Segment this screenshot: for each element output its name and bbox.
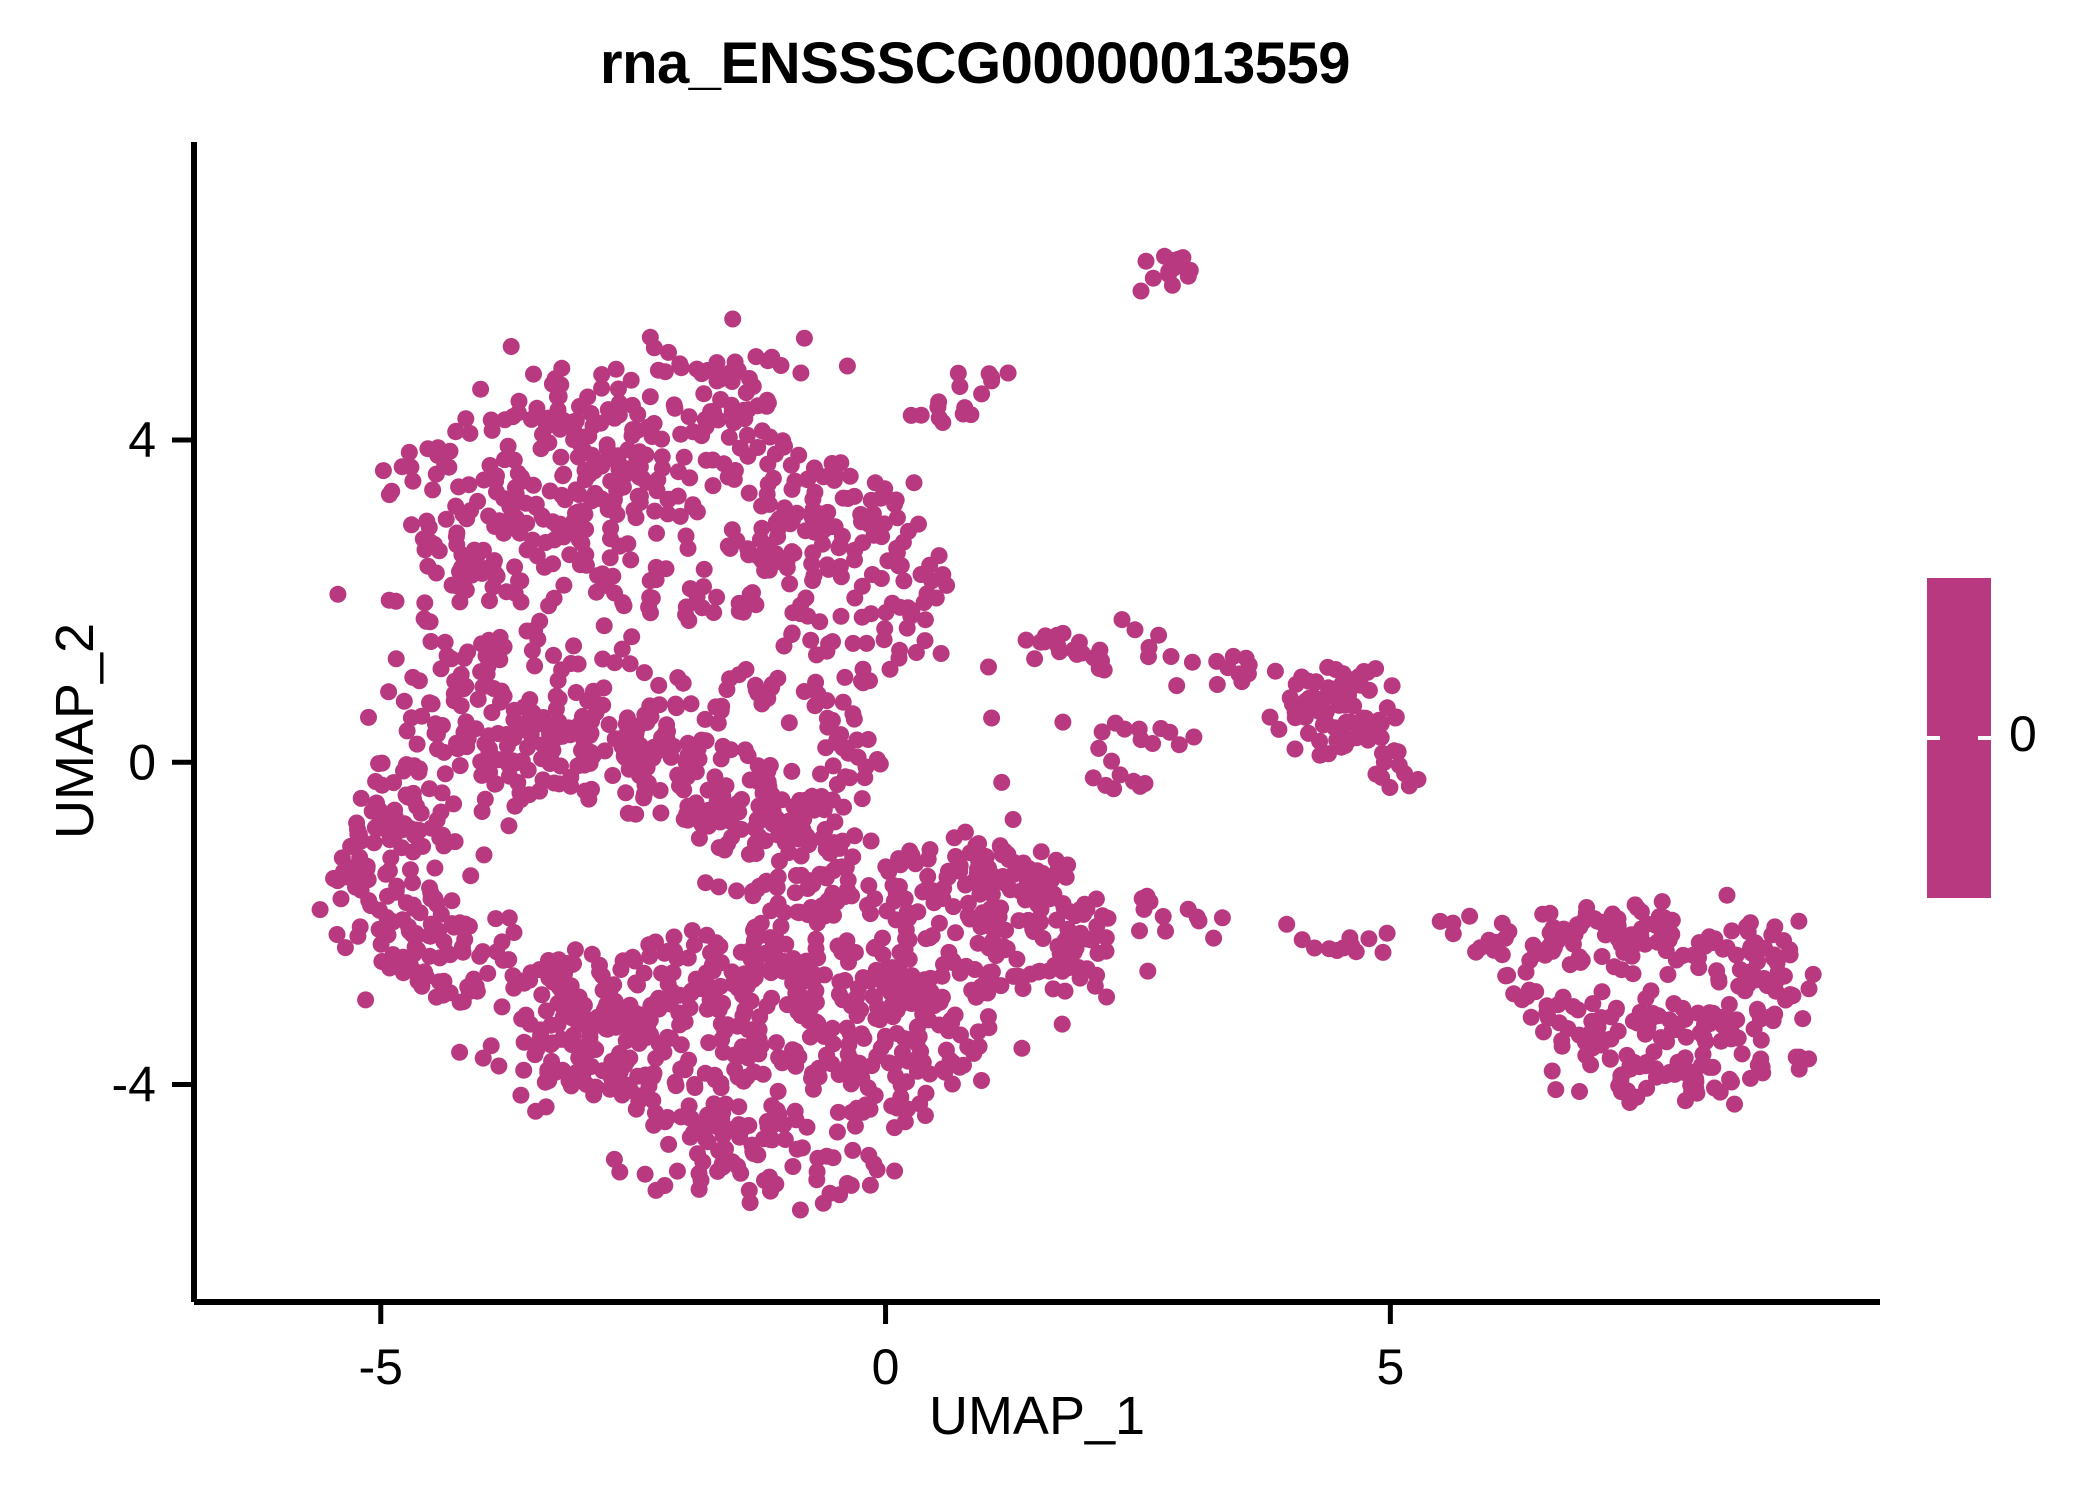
scatter-point xyxy=(909,903,926,920)
scatter-point xyxy=(739,1049,756,1066)
scatter-point xyxy=(781,714,798,731)
scatter-point xyxy=(1282,689,1299,706)
scatter-point xyxy=(803,555,820,572)
scatter-point xyxy=(668,699,685,716)
scatter-point xyxy=(418,613,435,630)
scatter-point xyxy=(718,681,735,698)
scatter-point xyxy=(770,1049,787,1066)
scatter-point xyxy=(962,844,979,861)
scatter-point xyxy=(429,741,446,758)
scatter-point xyxy=(1145,270,1162,287)
scatter-point xyxy=(1374,745,1391,762)
scatter-point xyxy=(396,693,413,710)
scatter-point xyxy=(540,597,557,614)
scatter-point xyxy=(688,971,705,988)
scatter-point xyxy=(1304,690,1321,707)
scatter-point xyxy=(381,592,398,609)
scatter-point xyxy=(1300,673,1317,690)
scatter-point xyxy=(503,338,520,355)
scatter-point xyxy=(909,1018,926,1035)
scatter-point xyxy=(741,846,758,863)
scatter-point xyxy=(1184,654,1201,671)
scatter-point xyxy=(1174,249,1191,266)
scatter-point xyxy=(444,577,461,594)
scatter-point xyxy=(982,900,999,917)
scatter-point xyxy=(626,953,643,970)
scatter-point xyxy=(723,397,740,414)
scatter-point xyxy=(558,985,575,1002)
scatter-point xyxy=(1024,884,1041,901)
scatter-point xyxy=(520,762,537,779)
scatter-point xyxy=(648,1182,665,1199)
scatter-point xyxy=(577,546,594,563)
scatter-point xyxy=(657,363,674,380)
scatter-point xyxy=(1582,1056,1599,1073)
scatter-point xyxy=(769,879,786,896)
scatter-point xyxy=(1327,661,1344,678)
scatter-point xyxy=(513,594,530,611)
scatter-point xyxy=(830,938,847,955)
scatter-point xyxy=(401,444,418,461)
scatter-point xyxy=(981,964,998,981)
scatter-point xyxy=(1488,934,1505,951)
scatter-point xyxy=(604,767,621,784)
scatter-point xyxy=(855,674,872,691)
scatter-point xyxy=(507,479,524,496)
scatter-point xyxy=(1103,753,1120,770)
scatter-point xyxy=(1710,971,1727,988)
scatter-point xyxy=(787,884,804,901)
scatter-point xyxy=(678,599,695,616)
scatter-point xyxy=(1765,1012,1782,1029)
scatter-point xyxy=(1065,642,1082,659)
scatter-point xyxy=(505,980,522,997)
scatter-point xyxy=(695,385,712,402)
scatter-point xyxy=(724,975,741,992)
scatter-point xyxy=(784,481,801,498)
scatter-point xyxy=(784,1158,801,1175)
scatter-point xyxy=(555,466,572,483)
scatter-point xyxy=(1076,896,1093,913)
scatter-point xyxy=(808,1014,825,1031)
scatter-point xyxy=(461,425,478,442)
scatter-point xyxy=(747,596,764,613)
scatter-point xyxy=(653,431,670,448)
scatter-point xyxy=(393,821,410,838)
scatter-point xyxy=(819,556,836,573)
scatter-point xyxy=(1160,263,1177,280)
scatter-point xyxy=(734,1007,751,1024)
scatter-point xyxy=(362,897,379,914)
scatter-point xyxy=(929,399,946,416)
scatter-point xyxy=(579,692,596,709)
colorbar-tick-label: 0 xyxy=(2009,705,2037,763)
scatter-point xyxy=(833,568,850,585)
scatter-point xyxy=(1139,963,1156,980)
scatter-point xyxy=(662,1030,679,1047)
scatter-point xyxy=(738,384,755,401)
scatter-point xyxy=(353,790,370,807)
scatter-point xyxy=(947,924,964,941)
scatter-point xyxy=(1499,967,1516,984)
scatter-point xyxy=(947,1007,964,1024)
scatter-point xyxy=(1753,1032,1770,1049)
scatter-point xyxy=(1059,929,1076,946)
scatter-point xyxy=(551,526,568,543)
scatter-point xyxy=(511,525,528,542)
scatter-point xyxy=(385,913,402,930)
scatter-point xyxy=(1185,729,1202,746)
scatter-point xyxy=(1544,1063,1561,1080)
scatter-point xyxy=(447,833,464,850)
scatter-point xyxy=(824,792,841,809)
scatter-point xyxy=(894,1044,911,1061)
scatter-point xyxy=(413,805,430,822)
scatter-point xyxy=(561,546,578,563)
scatter-point xyxy=(689,503,706,520)
scatter-point xyxy=(1098,929,1115,946)
scatter-point xyxy=(983,710,1000,727)
scatter-point xyxy=(960,895,977,912)
scatter-point xyxy=(384,955,401,972)
scatter-point xyxy=(660,1136,677,1153)
scatter-point xyxy=(784,604,801,621)
scatter-point xyxy=(973,1072,990,1089)
scatter-point xyxy=(997,922,1014,939)
scatter-point xyxy=(505,730,522,747)
scatter-point xyxy=(877,1028,894,1045)
scatter-point xyxy=(731,595,748,612)
scatter-point xyxy=(402,459,419,476)
scatter-point xyxy=(622,551,639,568)
scatter-point xyxy=(739,978,756,995)
scatter-point xyxy=(424,481,441,498)
scatter-point xyxy=(842,468,859,485)
scatter-point xyxy=(1388,709,1405,726)
scatter-point xyxy=(398,787,415,804)
scatter-point xyxy=(443,892,460,909)
scatter-point xyxy=(863,1057,880,1074)
scatter-point xyxy=(895,572,912,589)
scatter-point xyxy=(1371,712,1388,729)
scatter-point xyxy=(726,1061,743,1078)
scatter-point xyxy=(775,1116,792,1133)
scatter-point xyxy=(1584,1040,1601,1057)
scatter-point xyxy=(889,509,906,526)
scatter-point xyxy=(980,659,997,676)
scatter-point xyxy=(453,697,470,714)
scatter-point xyxy=(1613,961,1630,978)
y-axis-title: UMAP_2 xyxy=(44,381,106,1081)
scatter-point xyxy=(704,452,721,469)
scatter-point xyxy=(1205,930,1222,947)
scatter-point xyxy=(488,566,505,583)
scatter-point xyxy=(957,877,974,894)
scatter-point xyxy=(677,987,694,1004)
scatter-point xyxy=(714,995,731,1012)
scatter-point xyxy=(648,525,665,542)
scatter-point xyxy=(700,818,717,835)
scatter-point xyxy=(1554,1038,1571,1055)
scatter-point xyxy=(680,540,697,557)
scatter-point xyxy=(917,632,934,649)
scatter-point xyxy=(606,491,623,508)
scatter-point xyxy=(1133,283,1150,300)
scatter-point xyxy=(1527,983,1544,1000)
scatter-point xyxy=(750,814,767,831)
scatter-point xyxy=(485,749,502,766)
scatter-point xyxy=(833,608,850,625)
scatter-point xyxy=(638,447,655,464)
scatter-point xyxy=(606,654,623,671)
scatter-point xyxy=(944,1076,961,1093)
scatter-point xyxy=(715,1044,732,1061)
scatter-point xyxy=(1701,928,1718,945)
scatter-point xyxy=(1521,952,1538,969)
scatter-point xyxy=(1384,677,1401,694)
scatter-point xyxy=(828,731,845,748)
scatter-point xyxy=(1654,893,1671,910)
scatter-point xyxy=(924,927,941,944)
scatter-point xyxy=(602,1081,619,1098)
scatter-canvas: -505-404 xyxy=(0,0,2100,1500)
scatter-point xyxy=(1141,639,1158,656)
scatter-point xyxy=(877,604,894,621)
scatter-point xyxy=(696,561,713,578)
scatter-point xyxy=(407,963,424,980)
scatter-point xyxy=(490,725,507,742)
scatter-point xyxy=(475,472,492,489)
scatter-point xyxy=(410,764,427,781)
scatter-point xyxy=(868,962,885,979)
scatter-point xyxy=(836,669,853,686)
scatter-point xyxy=(822,1185,839,1202)
scatter-point xyxy=(695,578,712,595)
scatter-point xyxy=(1131,922,1148,939)
scatter-point xyxy=(792,1202,809,1219)
scatter-point xyxy=(647,1104,664,1121)
scatter-point xyxy=(476,846,493,863)
scatter-point xyxy=(483,704,500,721)
scatter-point xyxy=(458,724,475,741)
scatter-point xyxy=(681,469,698,486)
scatter-point xyxy=(598,1020,615,1037)
scatter-point xyxy=(1603,920,1620,937)
scatter-point xyxy=(404,874,421,891)
scatter-point xyxy=(776,638,793,655)
scatter-point xyxy=(741,485,758,502)
scatter-point xyxy=(570,503,587,520)
scatter-point xyxy=(373,936,390,953)
scatter-point xyxy=(1029,862,1046,879)
scatter-point xyxy=(525,366,542,383)
scatter-point xyxy=(709,1163,726,1180)
scatter-point xyxy=(673,359,690,376)
scatter-point xyxy=(843,997,860,1014)
scatter-point xyxy=(1138,253,1155,270)
scatter-point xyxy=(761,496,778,513)
scatter-point xyxy=(1643,982,1660,999)
scatter-point xyxy=(955,406,972,423)
scatter-point xyxy=(966,961,983,978)
scatter-point xyxy=(888,492,905,509)
scatter-point xyxy=(743,993,760,1010)
scatter-point xyxy=(1335,939,1352,956)
scatter-point xyxy=(760,778,777,795)
scatter-point xyxy=(796,683,813,700)
scatter-point xyxy=(1340,687,1357,704)
scatter-point xyxy=(414,838,431,855)
scatter-point xyxy=(746,919,763,936)
scatter-point xyxy=(652,782,669,799)
scatter-point xyxy=(759,997,776,1014)
scatter-point xyxy=(770,1083,787,1100)
scatter-point xyxy=(824,455,841,472)
scatter-point xyxy=(846,827,863,844)
scatter-point xyxy=(807,794,824,811)
scatter-point xyxy=(807,697,824,714)
scatter-point xyxy=(370,755,387,772)
scatter-point xyxy=(525,718,542,735)
scatter-point xyxy=(846,711,863,728)
scatter-point xyxy=(527,1103,544,1120)
scatter-point xyxy=(915,996,932,1013)
scatter-point xyxy=(1626,1054,1643,1071)
scatter-point xyxy=(647,934,664,951)
scatter-point xyxy=(1312,747,1329,764)
scatter-point xyxy=(888,911,905,928)
scatter-point xyxy=(780,844,797,861)
scatter-point xyxy=(903,407,920,424)
scatter-point xyxy=(799,1119,816,1136)
scatter-point xyxy=(1801,980,1818,997)
scatter-point xyxy=(869,1161,886,1178)
scatter-point xyxy=(1054,714,1071,731)
scatter-point xyxy=(1800,1050,1817,1067)
scatter-point xyxy=(1189,909,1206,926)
scatter-point xyxy=(551,775,568,792)
scatter-point xyxy=(892,856,909,873)
scatter-point xyxy=(945,898,962,915)
scatter-point xyxy=(688,361,705,378)
scatter-point xyxy=(1719,1010,1736,1027)
scatter-point xyxy=(926,894,943,911)
scatter-point xyxy=(505,711,522,728)
scatter-point xyxy=(1794,1010,1811,1027)
scatter-point xyxy=(335,863,352,880)
scatter-point xyxy=(380,683,397,700)
scatter-point xyxy=(416,594,433,611)
scatter-point xyxy=(1665,995,1682,1012)
scatter-point xyxy=(434,784,451,801)
scatter-point xyxy=(952,1027,969,1044)
scatter-point xyxy=(460,476,477,493)
scatter-point xyxy=(428,565,445,582)
scatter-point xyxy=(680,735,697,752)
scatter-point xyxy=(737,741,754,758)
scatter-point xyxy=(595,453,612,470)
scatter-point xyxy=(587,1079,604,1096)
scatter-point xyxy=(759,456,776,473)
scatter-point xyxy=(571,486,588,503)
scatter-point xyxy=(659,723,676,740)
scatter-point xyxy=(1525,937,1542,954)
scatter-point xyxy=(803,1070,820,1087)
scatter-point xyxy=(650,677,667,694)
scatter-point xyxy=(1056,944,1073,961)
scatter-point xyxy=(622,997,639,1014)
scatter-point xyxy=(646,503,663,520)
scatter-point xyxy=(705,604,722,621)
scatter-point xyxy=(853,513,870,530)
scatter-point xyxy=(802,632,819,649)
scatter-point xyxy=(741,1182,758,1199)
scatter-point xyxy=(537,1074,554,1091)
plot-panel: -505-404 xyxy=(0,0,2100,1500)
scatter-point xyxy=(377,865,394,882)
scatter-point xyxy=(1461,908,1478,925)
scatter-point xyxy=(829,776,846,793)
scatter-point xyxy=(933,645,950,662)
scatter-point xyxy=(854,534,871,551)
scatter-point xyxy=(806,969,823,986)
scatter-point xyxy=(859,897,876,914)
scatter-point xyxy=(980,1008,997,1025)
scatter-point xyxy=(762,929,779,946)
scatter-point xyxy=(644,1068,661,1085)
scatter-point xyxy=(487,910,504,927)
scatter-point xyxy=(992,977,1009,994)
scatter-point xyxy=(1180,268,1197,285)
scatter-point xyxy=(1742,914,1759,931)
scatter-point xyxy=(660,491,677,508)
scatter-point xyxy=(727,354,744,371)
scatter-point xyxy=(400,918,417,935)
y-tick-label: 4 xyxy=(128,412,156,468)
scatter-point xyxy=(545,647,562,664)
scatter-point xyxy=(512,791,529,808)
scatter-point xyxy=(372,812,389,829)
scatter-point xyxy=(844,1142,861,1159)
scatter-point xyxy=(906,474,923,491)
scatter-point xyxy=(869,751,886,768)
scatter-point xyxy=(850,749,867,766)
scatter-point xyxy=(521,972,538,989)
scatter-point xyxy=(519,541,536,558)
scatter-point xyxy=(329,586,346,603)
scatter-point xyxy=(749,685,766,702)
scatter-point xyxy=(854,790,871,807)
scatter-point xyxy=(496,411,513,428)
scatter-point xyxy=(1033,843,1050,860)
scatter-point xyxy=(677,1013,694,1030)
scatter-point xyxy=(349,826,366,843)
scatter-point xyxy=(1767,983,1784,1000)
scatter-point xyxy=(404,669,421,686)
scatter-point xyxy=(801,872,818,889)
scatter-point xyxy=(725,1121,742,1138)
scatter-point xyxy=(889,544,906,561)
y-tick-label: -4 xyxy=(112,1057,156,1113)
scatter-point xyxy=(646,339,663,356)
scatter-point xyxy=(1157,923,1174,940)
scatter-point xyxy=(904,967,921,984)
scatter-point xyxy=(1100,910,1117,927)
scatter-point xyxy=(886,1163,903,1180)
colorbar-legend[interactable]: 0 xyxy=(1927,578,1991,898)
scatter-point xyxy=(1000,365,1017,382)
scatter-point xyxy=(494,998,511,1015)
